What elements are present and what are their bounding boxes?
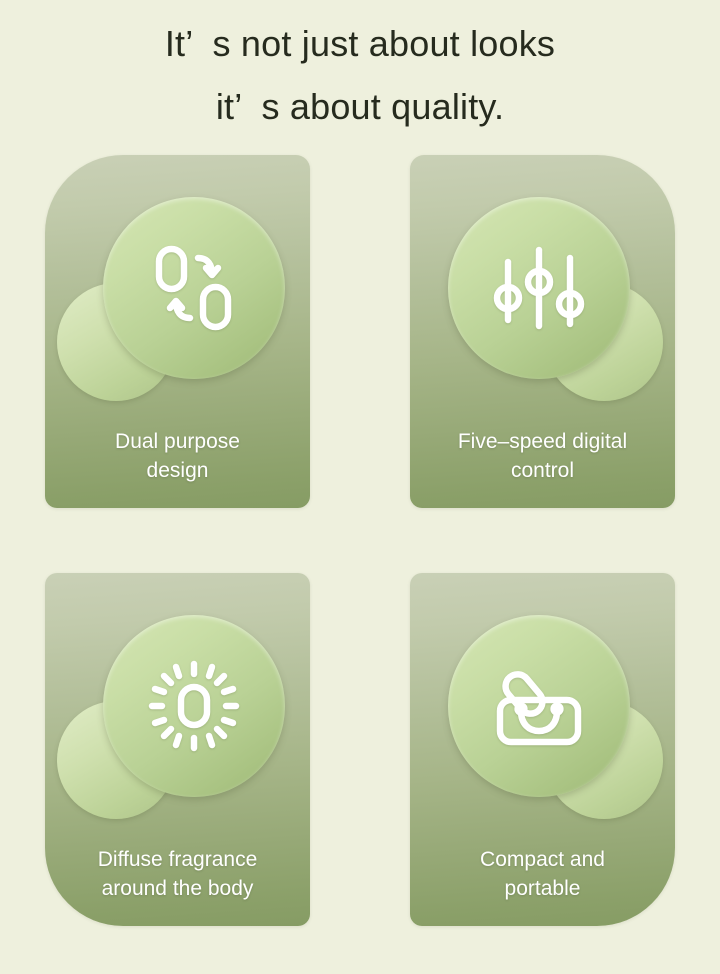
caption-line-2: design [53,457,302,486]
diffuse-rays-icon [103,615,285,797]
headline-line-1: It’ s not just about looks [0,12,720,75]
feature-caption: Dual purpose design [45,428,310,486]
feature-card-dual-purpose-design[interactable]: Dual purpose design [45,155,310,508]
feature-caption: Five–speed digital control [410,428,675,486]
feature-card-diffuse-fragrance[interactable]: Diffuse fragrance around the body [45,573,310,926]
feature-card-compact-portable[interactable]: Compact and portable [410,573,675,926]
swap-exchange-icon [103,197,285,379]
sliders-icon [448,197,630,379]
page-headline: It’ s not just about looks it’ s about q… [0,0,720,138]
caption-line-1: Dual purpose [53,428,302,457]
caption-line-1: Five–speed digital [418,428,667,457]
handbag-icon [448,615,630,797]
caption-line-1: Diffuse fragrance [53,846,302,875]
feature-caption: Diffuse fragrance around the body [45,846,310,904]
caption-line-2: portable [418,875,667,904]
feature-card-grid: Dual purpose design Five–speed digital c… [45,155,675,933]
caption-line-1: Compact and [418,846,667,875]
feature-caption: Compact and portable [410,846,675,904]
feature-card-five-speed-digital-control[interactable]: Five–speed digital control [410,155,675,508]
caption-line-2: around the body [53,875,302,904]
caption-line-2: control [418,457,667,486]
headline-line-2: it’ s about quality. [0,75,720,138]
